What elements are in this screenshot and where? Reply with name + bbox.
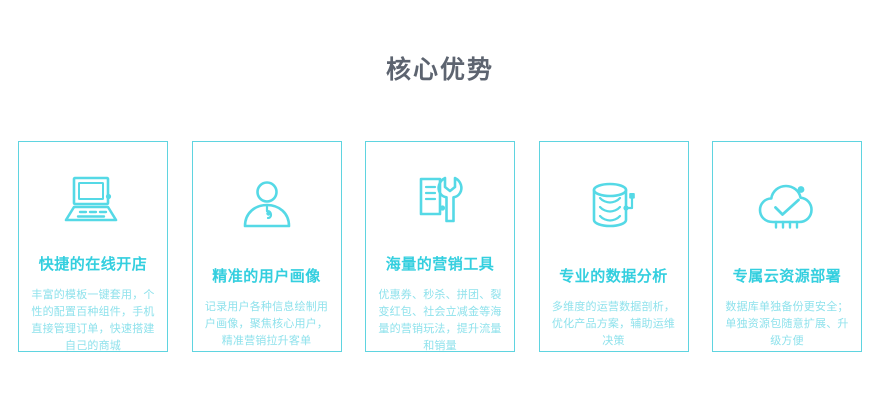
advantage-card-description: 记录用户各种信息绘制用户画像，聚焦核心用户，精准营销拉升客单 (204, 299, 330, 350)
advantage-card[interactable]: 专属云资源部署 数据库单独备份更安全；单独资源包随意扩展、升级方便 (712, 141, 862, 352)
document-wrench-icon (404, 174, 476, 226)
advantage-card-title: 海量的营销工具 (386, 256, 495, 274)
advantage-card-description: 丰富的模板一键套用，个性的配置百种组件，手机直接管理订单，快速搭建自己的商城 (30, 287, 156, 355)
advantage-card-title: 快捷的在线开店 (39, 256, 148, 274)
advantage-card-description: 数据库单独备份更安全；单独资源包随意扩展、升级方便 (724, 299, 850, 350)
cloud-check-icon (751, 174, 823, 238)
advantage-card-list: 快捷的在线开店 丰富的模板一键套用，个性的配置百种组件，手机直接管理订单，快速搭… (18, 141, 862, 352)
advantage-card[interactable]: 海量的营销工具 优惠券、秒杀、拼团、裂变红包、社会立减金等海量的营销玩法，提升流… (365, 141, 515, 352)
advantage-card-description: 多维度的运营数据剖析，优化产品方案，辅助运维决策 (551, 299, 677, 350)
laptop-icon (57, 174, 129, 226)
user-profile-icon (231, 174, 303, 238)
advantage-card[interactable]: 专业的数据分析 多维度的运营数据剖析，优化产品方案，辅助运维决策 (539, 141, 689, 352)
advantage-card[interactable]: 精准的用户画像 记录用户各种信息绘制用户画像，聚焦核心用户，精准营销拉升客单 (192, 141, 342, 352)
advantage-card-description: 优惠券、秒杀、拼团、裂变红包、社会立减金等海量的营销玩法，提升流量和销量 (377, 287, 503, 355)
page-title: 核心优势 (0, 55, 880, 85)
advantage-card-title: 专属云资源部署 (733, 268, 842, 286)
advantage-card-title: 专业的数据分析 (559, 268, 668, 286)
database-icon (578, 174, 650, 238)
advantage-card[interactable]: 快捷的在线开店 丰富的模板一键套用，个性的配置百种组件，手机直接管理订单，快速搭… (18, 141, 168, 352)
advantage-card-title: 精准的用户画像 (212, 268, 321, 286)
advantages-section: 核心优势 快捷的在线开店 丰富的模板一键套用，个性的配置百种组件，手机直接管理订… (0, 0, 880, 402)
